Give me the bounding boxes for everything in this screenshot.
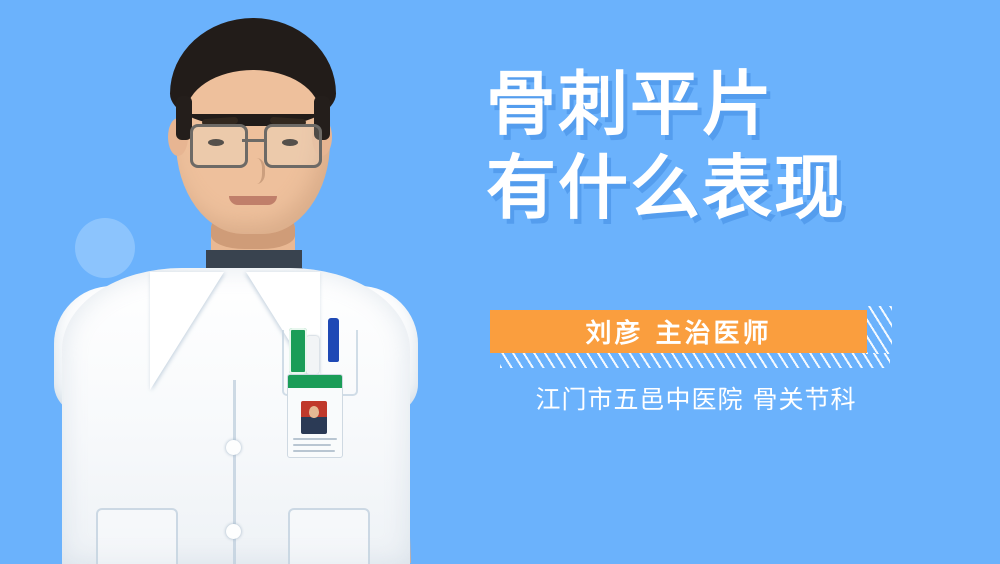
- hatch-stripes-right: [866, 306, 892, 354]
- id-card-text-line: [293, 444, 331, 446]
- id-card-header: [288, 375, 342, 388]
- glasses-bridge: [242, 139, 264, 142]
- blue-pen-icon: [328, 318, 339, 362]
- coat-button-lower: [226, 524, 241, 539]
- id-card-text-line: [293, 450, 335, 452]
- coat-button-upper: [226, 440, 241, 455]
- headline-line-1: 骨刺平片: [486, 62, 946, 146]
- nose: [244, 158, 265, 184]
- id-badge-card: [287, 374, 343, 458]
- speaker-name-badge: 刘彦 主治医师: [490, 310, 867, 353]
- hair: [170, 18, 336, 126]
- speaker-name-badge-label: 刘彦 主治医师: [585, 313, 771, 350]
- hatch-stripes-bottom: [500, 353, 890, 368]
- video-cover-canvas: 骨刺平片 有什么表现 刘彦 主治医师 江门市五邑中医院 骨关节科: [0, 0, 1000, 564]
- headline: 骨刺平片 有什么表现: [486, 62, 946, 230]
- mouth: [229, 196, 277, 205]
- id-card-photo: [301, 401, 327, 434]
- hospital-department-label: 江门市五邑中医院 骨关节科: [486, 380, 906, 416]
- green-badge-clip-icon: [289, 328, 307, 374]
- glasses-lens-right: [264, 124, 322, 168]
- coat-lapel-left: [150, 272, 224, 390]
- doctor-portrait: [0, 0, 470, 564]
- white-pen-icon: [306, 336, 319, 374]
- id-card-text-line: [293, 438, 337, 440]
- coat-pocket-right: [288, 508, 370, 564]
- coat-pocket-left: [96, 508, 178, 564]
- headline-line-2: 有什么表现: [486, 146, 946, 230]
- glasses-lens-left: [190, 124, 248, 168]
